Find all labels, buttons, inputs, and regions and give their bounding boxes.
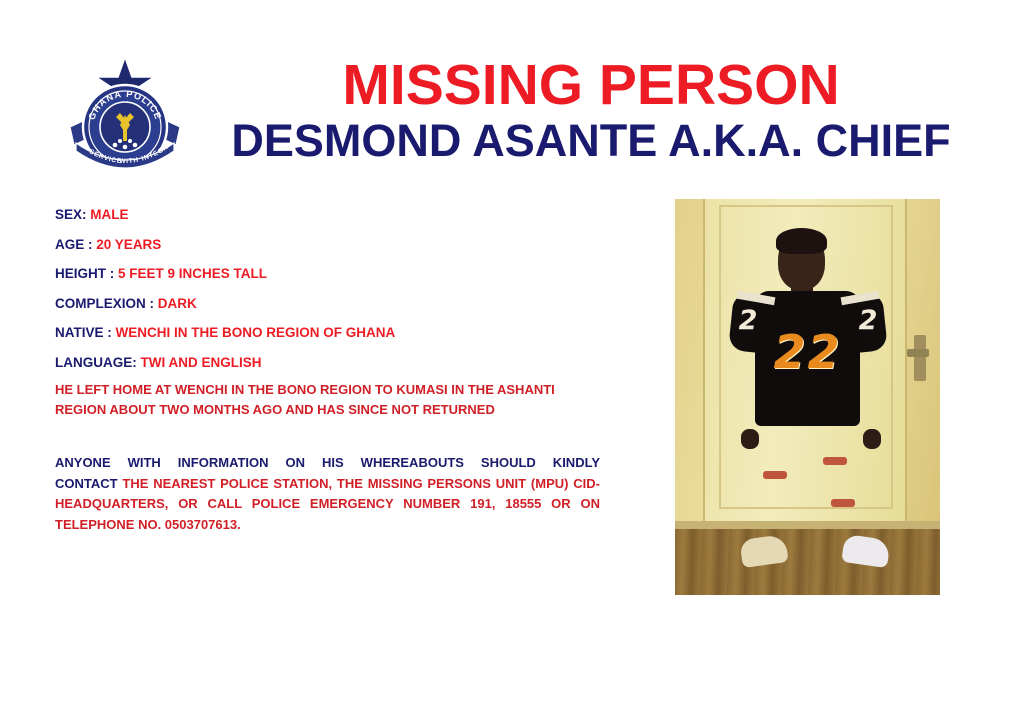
photo-sleeve-number: 2 (855, 307, 881, 334)
detail-row-language: LANGUAGE: TWI AND ENGLISH (55, 348, 655, 378)
detail-value: 5 FEET 9 INCHES TALL (118, 266, 267, 281)
poster-titles: MISSING PERSON DESMOND ASANTE A.K.A. CHI… (176, 56, 1006, 166)
photo-right-hand (863, 429, 881, 449)
person-details-list: SEX: MALE AGE : 20 YEARS HEIGHT : 5 FEET… (55, 200, 655, 377)
detail-value: TWI AND ENGLISH (141, 355, 262, 370)
poster-footer: www police.gov.gh (0, 600, 1024, 680)
detail-label: SEX: (55, 207, 87, 222)
detail-label: AGE : (55, 237, 93, 252)
detail-row-height: HEIGHT : 5 FEET 9 INCHES TALL (55, 259, 655, 289)
detail-row-complexion: COMPLEXION : DARK (55, 289, 655, 319)
contact-line-1: ANYONE WITH INFORMATION ON HIS WHEREABOU… (55, 453, 600, 474)
photo-sleeve-number: 2 (735, 307, 761, 334)
circumstances-paragraph: HE LEFT HOME AT WENCHI IN THE BONO REGIO… (55, 380, 607, 420)
detail-value: MALE (90, 207, 128, 222)
detail-row-native: NATIVE : WENCHI IN THE BONO REGION OF GH… (55, 318, 655, 348)
photo-jeans-rip (831, 499, 855, 507)
missing-person-poster: GHANA POLICE SERVICE WITH INTEGRITY (0, 0, 1024, 724)
poster-header: GHANA POLICE SERVICE WITH INTEGRITY (0, 0, 1024, 180)
photo-wooden-floor (675, 529, 940, 595)
poster-title-missing: MISSING PERSON (176, 56, 1006, 114)
photo-jeans-rip (763, 471, 787, 479)
detail-label: COMPLEXION : (55, 296, 154, 311)
detail-value: DARK (158, 296, 197, 311)
detail-label: NATIVE : (55, 325, 112, 340)
ghana-police-badge-icon: GHANA POLICE SERVICE WITH INTEGRITY (66, 55, 184, 175)
detail-row-age: AGE : 20 YEARS (55, 230, 655, 260)
missing-person-photo: 2 2 22 (675, 199, 940, 595)
photo-door-handle (907, 349, 929, 357)
detail-value: WENCHI IN THE BONO REGION OF GHANA (116, 325, 396, 340)
photo-jeans-rip (823, 457, 847, 465)
detail-row-sex: SEX: MALE (55, 200, 655, 230)
contact-line-2-red: THE NEAREST POLICE STATION, THE MISSING … (122, 476, 568, 491)
detail-value: 20 YEARS (96, 237, 161, 252)
contact-line-2-label: CONTACT (55, 476, 118, 491)
photo-hair (776, 228, 827, 254)
detail-label: LANGUAGE: (55, 355, 137, 370)
contact-instructions: ANYONE WITH INFORMATION ON HIS WHEREABOU… (55, 453, 600, 535)
photo-jersey-number: 22 (760, 329, 855, 375)
poster-title-name: DESMOND ASANTE A.K.A. CHIEF (176, 116, 1006, 166)
detail-label: HEIGHT : (55, 266, 114, 281)
photo-door-handle-plate (914, 335, 926, 381)
photo-left-hand (741, 429, 759, 449)
